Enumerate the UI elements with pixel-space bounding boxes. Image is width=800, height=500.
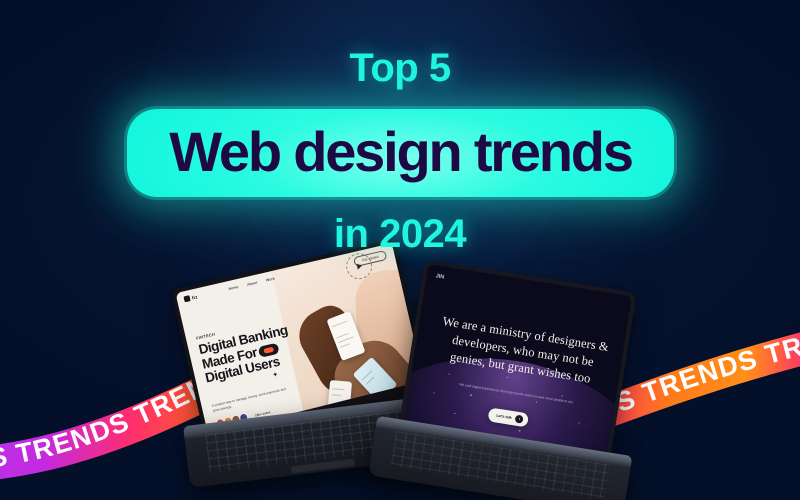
- title-badge-surface: Web design trends: [127, 109, 674, 197]
- nav-link-work[interactable]: Work: [266, 277, 276, 283]
- logo-mark-icon: [183, 295, 190, 302]
- title-badge-glow: [101, 83, 700, 223]
- laptop-right: JIN We are a ministry of designers & dev…: [382, 268, 632, 500]
- poster-canvas: Top 5 Web design trends in 2024 fiz Home: [0, 0, 800, 500]
- nav-link-home[interactable]: Home: [228, 285, 239, 291]
- nav-link-about[interactable]: About: [247, 281, 258, 287]
- sparkle-icon: ✦: [272, 370, 280, 379]
- studio-logo[interactable]: JIN: [435, 273, 444, 280]
- title-badge: Web design trends: [127, 109, 674, 197]
- subline-text: in 2024: [0, 212, 800, 257]
- lets-talk-label: Let's talk: [496, 414, 512, 420]
- nav-links: Home About Work: [228, 277, 275, 292]
- site-logo[interactable]: fiz: [183, 293, 198, 302]
- arrow-right-icon: ›: [515, 415, 524, 424]
- hero-paragraph: A smarter way to manage money, send paym…: [211, 386, 289, 414]
- kicker-text: Top 5: [0, 46, 800, 91]
- logo-text: fiz: [191, 294, 198, 300]
- title-badge-text: Web design trends: [169, 124, 632, 180]
